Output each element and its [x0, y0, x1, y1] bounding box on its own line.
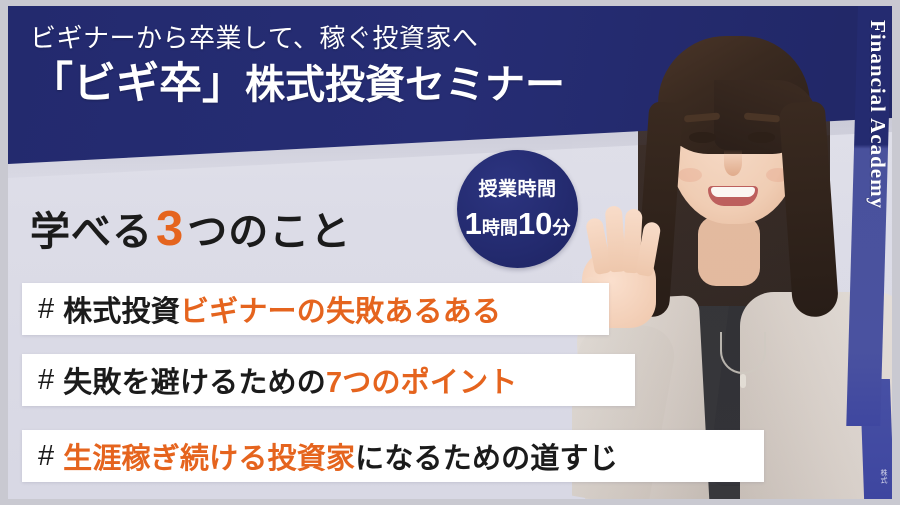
heading-suffix: つのこと: [187, 210, 351, 254]
teeth: [711, 187, 755, 197]
section-heading: 学べる3つのこと: [30, 199, 351, 257]
point-text-plain-head: 失敗を避けるための: [63, 359, 326, 401]
duration-value: 1時間10分: [465, 208, 571, 239]
duration-label: 授業時間: [478, 180, 556, 199]
seminar-banner: ビギナーから卒業して、稼ぐ投資家へ 「ビギ卒」株式投資セミナー Financia…: [0, 0, 900, 505]
duration-minutes-unit: 分: [552, 219, 570, 237]
duration-hours: 1: [465, 208, 482, 239]
heading-count: 3: [153, 202, 187, 256]
duration-badge: 授業時間 1時間10分: [457, 150, 578, 268]
point-text-highlight: 生涯稼ぎ続ける投資家: [63, 435, 355, 477]
learning-point-row: #株式投資ビギナーの失敗あるある: [22, 283, 609, 335]
hash-icon: #: [38, 364, 54, 397]
hash-icon: #: [38, 440, 54, 473]
eye-right: [748, 132, 775, 143]
learning-point-row: #失敗を避けるための7つのポイント: [22, 354, 635, 406]
duration-minutes: 10: [518, 208, 552, 239]
eye-left: [689, 132, 716, 143]
cheek-left: [678, 168, 702, 182]
header-text-block: ビギナーから卒業して、稼ぐ投資家へ 「ビギ卒」株式投資セミナー: [30, 24, 565, 110]
header-subtitle: ビギナーから卒業して、稼ぐ投資家へ: [30, 24, 565, 54]
duration-hours-unit: 時間: [482, 219, 518, 237]
header-title: 「ビギ卒」株式投資セミナー: [30, 59, 565, 110]
point-text-highlight: ビギナーの失敗あるある: [180, 288, 501, 330]
point-text-plain-head: 株式投資: [63, 288, 180, 330]
side-strip-lower: [860, 379, 892, 499]
mouth: [708, 186, 758, 206]
banner-stage: ビギナーから卒業して、稼ぐ投資家へ 「ビギ卒」株式投資セミナー Financia…: [8, 6, 892, 499]
title-quote-close: 」: [202, 60, 245, 108]
hash-icon: #: [38, 293, 54, 326]
point-text-plain-tail: になるための道すじ: [355, 435, 618, 477]
neck: [698, 216, 760, 286]
title-rest: 株式投資セミナー: [245, 63, 565, 107]
necklace-pendant: [740, 374, 746, 388]
learning-point-row: #生涯稼ぎ続ける投資家になるための道すじ: [22, 430, 764, 482]
nose: [724, 150, 742, 176]
title-quote-open: 「: [30, 60, 73, 108]
heading-prefix: 学べる: [30, 210, 153, 254]
title-keyword: ビギ卒: [73, 60, 202, 108]
point-text-highlight: 7つのポイント: [326, 359, 518, 401]
